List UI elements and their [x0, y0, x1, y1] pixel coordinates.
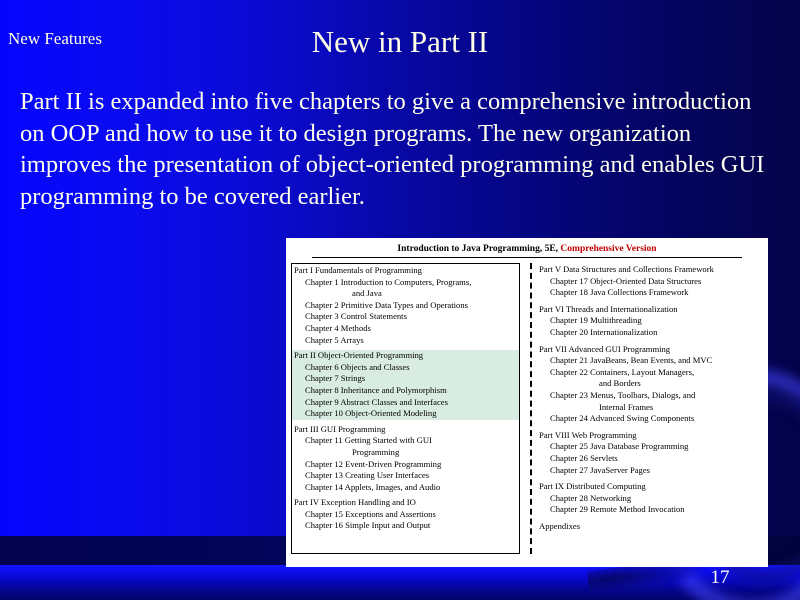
book-toc-part-group: Part I Fundamentals of ProgrammingChapte…: [292, 265, 519, 346]
book-toc-right-column: Part V Data Structures and Collections F…: [530, 263, 763, 554]
book-toc-chapter-entry: Programming: [294, 447, 519, 459]
slide-title: New in Part II: [160, 24, 640, 60]
book-toc-part-heading: Part VII Advanced GUI Programming: [539, 344, 763, 356]
book-toc-title-main: Introduction to Java Programming, 5E,: [397, 244, 558, 254]
slide-background-footer-band: [0, 565, 800, 600]
book-toc-part-heading: Part II Object-Oriented Programming: [294, 350, 519, 362]
book-toc-chapter-entry: Chapter 7 Strings: [294, 373, 519, 385]
book-toc-part-group: Part II Object-Oriented ProgrammingChapt…: [292, 350, 519, 420]
presentation-slide: New Features New in Part II Part II is e…: [0, 0, 800, 600]
book-toc-chapter-entry: Chapter 14 Applets, Images, and Audio: [294, 482, 519, 494]
book-toc-chapter-entry: Chapter 24 Advanced Swing Components: [539, 413, 763, 425]
book-toc-chapter-entry: Chapter 25 Java Database Programming: [539, 441, 763, 453]
book-toc-column-gap: [520, 263, 530, 554]
book-toc-chapter-entry: Chapter 23 Menus, Toolbars, Dialogs, and: [539, 390, 763, 402]
book-toc-chapter-entry: Chapter 3 Control Statements: [294, 311, 519, 323]
book-toc-chapter-entry: Chapter 2 Primitive Data Types and Opera…: [294, 300, 519, 312]
book-toc-title: Introduction to Java Programming, 5E, Co…: [286, 238, 768, 255]
book-toc-chapter-entry: Chapter 29 Remote Method Invocation: [539, 504, 763, 516]
book-toc-chapter-entry: Chapter 19 Multithreading: [539, 315, 763, 327]
book-toc-columns: Part I Fundamentals of ProgrammingChapte…: [286, 258, 768, 554]
book-toc-part-heading: Part IV Exception Handling and IO: [294, 497, 519, 509]
book-toc-part-group: Part VII Advanced GUI ProgrammingChapter…: [537, 344, 763, 425]
book-toc-panel: Introduction to Java Programming, 5E, Co…: [286, 238, 768, 567]
book-toc-title-edition: Comprehensive Version: [560, 244, 656, 254]
book-toc-part-heading: Part IX Distributed Computing: [539, 481, 763, 493]
book-toc-chapter-entry: Chapter 9 Abstract Classes and Interface…: [294, 397, 519, 409]
slide-body-text: Part II is expanded into five chapters t…: [20, 86, 772, 212]
book-toc-chapter-entry: Chapter 22 Containers, Layout Managers,: [539, 367, 763, 379]
book-toc-chapter-entry: Chapter 4 Methods: [294, 323, 519, 335]
book-toc-chapter-entry: Chapter 12 Event-Driven Programming: [294, 459, 519, 471]
book-toc-chapter-entry: Chapter 11 Getting Started with GUI: [294, 435, 519, 447]
book-toc-part-heading: Part VI Threads and Internationalization: [539, 304, 763, 316]
book-toc-part-heading: Part III GUI Programming: [294, 424, 519, 436]
slide-page-number: 17: [700, 566, 740, 590]
book-toc-left-column: Part I Fundamentals of ProgrammingChapte…: [291, 263, 520, 554]
book-toc-chapter-entry: and Borders: [539, 378, 763, 390]
book-toc-chapter-entry: Chapter 27 JavaServer Pages: [539, 465, 763, 477]
book-toc-chapter-entry: Chapter 20 Internationalization: [539, 327, 763, 339]
book-toc-chapter-entry: Chapter 28 Networking: [539, 493, 763, 505]
book-toc-chapter-entry: Chapter 8 Inheritance and Polymorphism: [294, 385, 519, 397]
book-toc-chapter-entry: Chapter 21 JavaBeans, Bean Events, and M…: [539, 355, 763, 367]
book-toc-chapter-entry: Chapter 15 Exceptions and Assertions: [294, 509, 519, 521]
book-toc-part-heading: Part VIII Web Programming: [539, 430, 763, 442]
book-toc-chapter-entry: Chapter 17 Object-Oriented Data Structur…: [539, 276, 763, 288]
book-toc-part-group: Part III GUI ProgrammingChapter 11 Getti…: [292, 424, 519, 494]
book-toc-chapter-entry: Chapter 18 Java Collections Framework: [539, 287, 763, 299]
book-toc-part-group: Part IX Distributed ComputingChapter 28 …: [537, 481, 763, 516]
book-toc-part-group: Part VI Threads and Internationalization…: [537, 304, 763, 339]
book-toc-chapter-entry: and Java: [294, 288, 519, 300]
book-toc-chapter-entry: Chapter 10 Object-Oriented Modeling: [294, 408, 519, 420]
book-toc-part-group: Appendixes: [537, 521, 763, 533]
book-toc-chapter-entry: Chapter 5 Arrays: [294, 335, 519, 347]
book-toc-chapter-entry: Internal Frames: [539, 402, 763, 414]
book-toc-part-group: Part V Data Structures and Collections F…: [537, 264, 763, 299]
book-toc-part-heading: Part I Fundamentals of Programming: [294, 265, 519, 277]
book-toc-part-group: Part IV Exception Handling and IOChapter…: [292, 497, 519, 532]
book-toc-chapter-entry: Chapter 13 Creating User Interfaces: [294, 470, 519, 482]
book-toc-part-heading: Part V Data Structures and Collections F…: [539, 264, 763, 276]
book-toc-chapter-entry: Chapter 1 Introduction to Computers, Pro…: [294, 277, 519, 289]
slide-kicker-label: New Features: [8, 29, 102, 49]
book-toc-chapter-entry: Chapter 6 Objects and Classes: [294, 362, 519, 374]
book-toc-chapter-entry: Chapter 26 Servlets: [539, 453, 763, 465]
book-toc-chapter-entry: Chapter 16 Simple Input and Output: [294, 520, 519, 532]
book-toc-part-heading: Appendixes: [539, 521, 763, 533]
book-toc-part-group: Part VIII Web ProgrammingChapter 25 Java…: [537, 430, 763, 476]
